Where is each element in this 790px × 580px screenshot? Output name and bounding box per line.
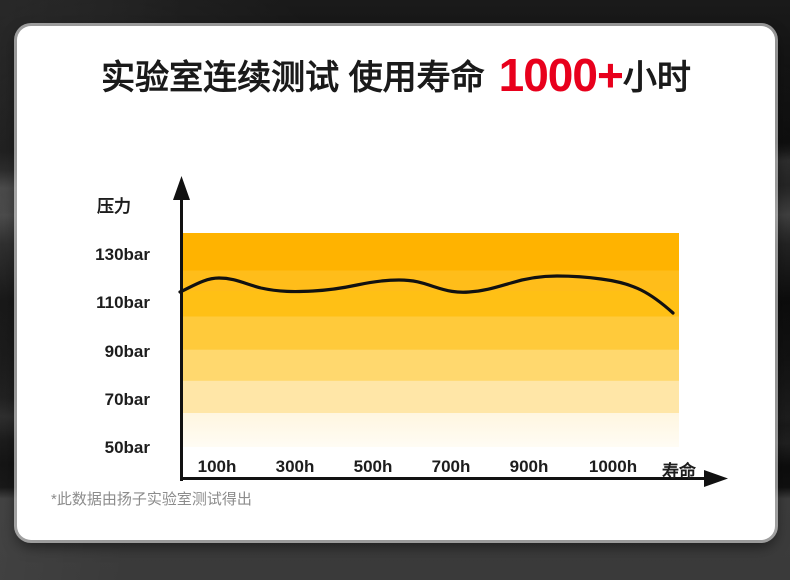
x-tick-label: 100h xyxy=(198,457,237,477)
chart-footnote: *此数据由扬子实验室测试得出 xyxy=(51,488,252,509)
x-tick-label: 700h xyxy=(432,457,471,477)
x-tick-label: 900h xyxy=(510,457,549,477)
x-tick-label: 300h xyxy=(276,457,315,477)
x-axis-tick-group: 100h 300h 500h 700h 900h 1000h 寿命 xyxy=(17,26,775,540)
x-tick-label: 500h xyxy=(354,457,393,477)
x-axis-title: 寿命 xyxy=(662,457,696,482)
x-tick-label: 1000h xyxy=(589,457,637,477)
page-backdrop: 实验室连续测试 使用寿命1000+小时 xyxy=(0,0,790,580)
pressure-life-chart: 压力 130bar 110bar 90bar 70bar 50bar 100h … xyxy=(17,26,775,540)
content-card: 实验室连续测试 使用寿命1000+小时 xyxy=(17,26,775,540)
